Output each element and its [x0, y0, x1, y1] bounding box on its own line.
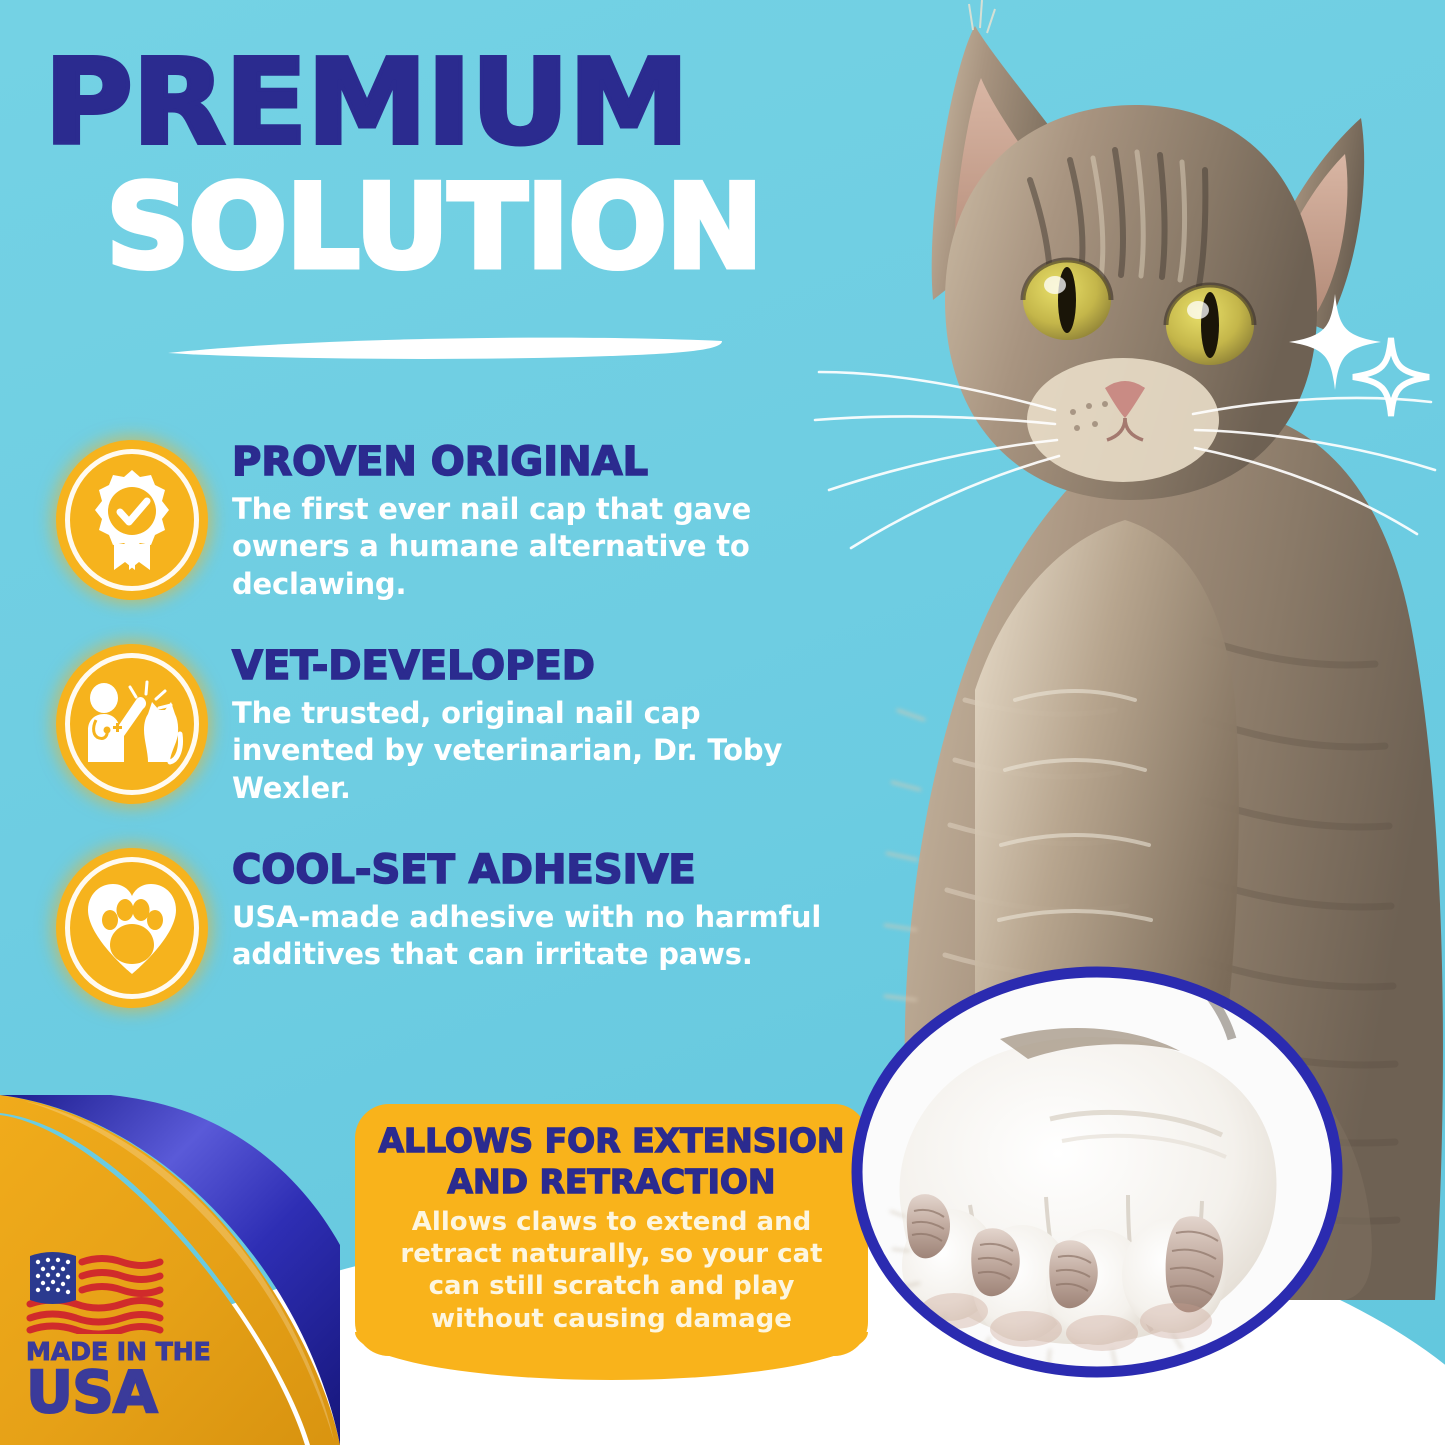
- feature-title: PROVEN ORIGINAL: [232, 442, 846, 483]
- usa-text: USA: [26, 1366, 211, 1419]
- feature-body: The first ever nail cap that gave owners…: [232, 491, 846, 604]
- heart-paw-icon: [56, 848, 208, 1008]
- cat-paw-with-nail-caps-photo: [850, 965, 1345, 1380]
- feature-item-proven-original: PROVEN ORIGINAL The first ever nail cap …: [56, 440, 846, 604]
- usa-flag-icon: [24, 1250, 164, 1339]
- sparkle-star-outline-icon: [1353, 338, 1429, 416]
- callout-body: Allows claws to extend and retract natur…: [373, 1206, 850, 1335]
- callout-title-line2: AND RETRACTION: [373, 1165, 850, 1200]
- vet-high-five-cat-icon: [56, 644, 208, 804]
- feature-title: COOL-SET ADHESIVE: [232, 850, 846, 891]
- feature-body: The trusted, original nail cap invented …: [232, 695, 846, 808]
- headline-solution: SOLUTION: [106, 173, 844, 283]
- brush-swoosh-icon: [166, 334, 726, 360]
- extension-retraction-callout: ALLOWS FOR EXTENSION AND RETRACTION Allo…: [355, 1104, 868, 1356]
- made-in-usa-label: MADE IN THE USA: [26, 1339, 211, 1419]
- feature-list: PROVEN ORIGINAL The first ever nail cap …: [56, 440, 846, 1048]
- product-feature-poster: PREMIUM SOLUTION PROVEN ORIGINAL The fir…: [0, 0, 1445, 1445]
- feature-body: USA-made adhesive with no harmful additi…: [232, 899, 846, 974]
- award-ribbon-check-icon: [56, 440, 208, 600]
- feature-title: VET-DEVELOPED: [232, 646, 846, 687]
- page-title: PREMIUM SOLUTION: [44, 48, 844, 283]
- callout-title-line1: ALLOWS FOR EXTENSION: [373, 1124, 850, 1159]
- headline-premium: PREMIUM: [44, 48, 868, 157]
- feature-item-cool-set-adhesive: COOL-SET ADHESIVE USA-made adhesive with…: [56, 848, 846, 1008]
- feature-item-vet-developed: VET-DEVELOPED The trusted, original nail…: [56, 644, 846, 808]
- sparkles-group: [1283, 290, 1433, 425]
